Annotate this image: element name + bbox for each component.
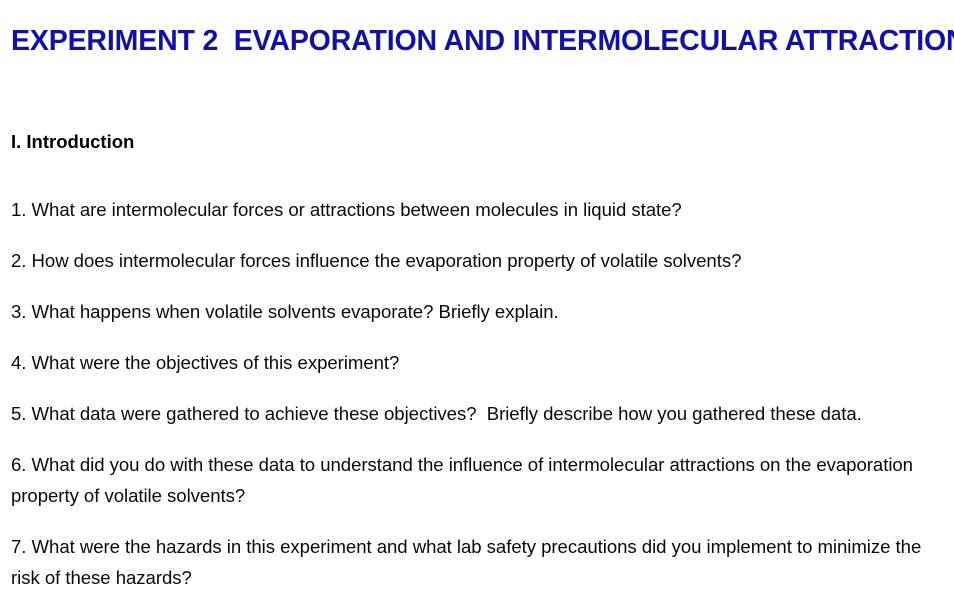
- question-item: 5. What data were gathered to achieve th…: [11, 399, 943, 430]
- question-item: 7. What were the hazards in this experim…: [11, 532, 943, 594]
- question-item: 2. How does intermolecular forces influe…: [11, 246, 943, 277]
- section-heading-introduction: I. Introduction: [11, 129, 134, 155]
- question-item: 4. What were the objectives of this expe…: [11, 348, 943, 379]
- page-title: EXPERIMENT 2 EVAPORATION AND INTERMOLECU…: [11, 23, 954, 59]
- document-page: EXPERIMENT 2 EVAPORATION AND INTERMOLECU…: [0, 0, 954, 595]
- question-item: 1. What are intermolecular forces or att…: [11, 195, 943, 226]
- question-item: 3. What happens when volatile solvents e…: [11, 297, 943, 328]
- question-list: 1. What are intermolecular forces or att…: [11, 195, 943, 594]
- question-item: 6. What did you do with these data to un…: [11, 450, 943, 512]
